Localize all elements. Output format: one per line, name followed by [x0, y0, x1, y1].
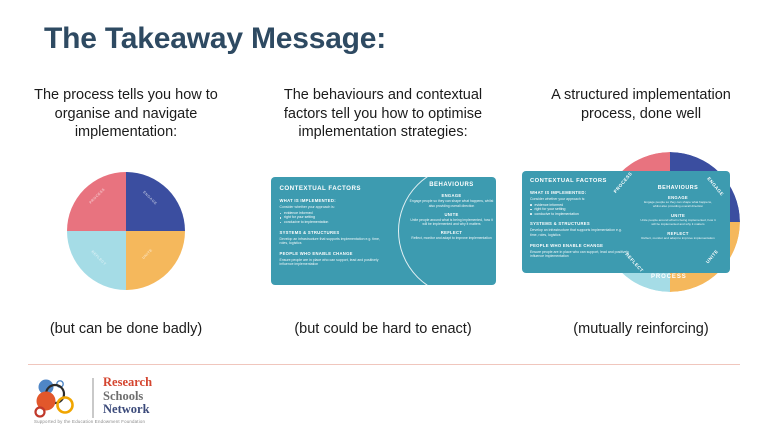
section-body: Develop an infrastructure that supports …	[530, 228, 630, 237]
slide-canvas: The Takeaway Message: The process tells …	[0, 0, 768, 431]
column-2-heading: The behaviours and contextual factors te…	[261, 86, 506, 142]
column-1-heading: The process tells you how to organise an…	[19, 86, 234, 142]
section-bullets: evidence informed right for your setting…	[530, 203, 630, 217]
column-2-figure: CONTEXTUAL FACTORS WHAT IS IMPLEMENTED: …	[252, 142, 514, 322]
footer-tagline: Supported by the Education Endowment Fou…	[34, 419, 145, 424]
footer-logo: Research Schools Network	[32, 376, 152, 420]
contextual-section-systems: SYSTEMS & STRUCTURES Develop an infrastr…	[530, 221, 630, 237]
behaviour-heading: REFLECT	[641, 231, 714, 236]
column-process: The process tells you how to organise an…	[0, 86, 252, 341]
section-heading: PEOPLE WHO ENABLE CHANGE	[280, 251, 388, 256]
pie-segments	[67, 172, 185, 290]
section-body: Ensure people are in place who can suppo…	[530, 250, 630, 259]
research-schools-logo-icon	[32, 376, 88, 420]
behaviour-body: Engage people so they can shape what hap…	[409, 199, 495, 208]
combined-ring-panel: CONTEXTUAL FACTORS WHAT IS IMPLEMENTED: …	[518, 152, 764, 292]
section-body: Develop an infrastructure that supports …	[280, 237, 388, 246]
footer-divider	[28, 364, 740, 365]
contextual-section-systems: SYSTEMS & STRUCTURES Develop an infrastr…	[280, 230, 388, 246]
contextual-section-what: WHAT IS IMPLEMENTED: Consider whether yo…	[280, 198, 388, 224]
behaviours-circle: BEHAVIOURS ENGAGE Engage people so they …	[398, 177, 496, 285]
behaviour-body: Reflect, monitor and adapt to improve im…	[641, 237, 714, 241]
contextual-section-people: PEOPLE WHO ENABLE CHANGE Ensure people a…	[530, 243, 630, 259]
contextual-section-what: WHAT IS IMPLEMENTED: Consider whether yo…	[530, 190, 630, 216]
behaviour-heading: ENGAGE	[409, 193, 495, 198]
column-behaviours: The behaviours and contextual factors te…	[252, 86, 514, 341]
ring-label-bottom: PROCESS	[651, 274, 687, 280]
behaviour-heading: UNITE	[409, 212, 495, 217]
logo-wordmark: Research Schools Network	[103, 376, 152, 417]
section-heading: SYSTEMS & STRUCTURES	[530, 221, 630, 226]
section-bullets: evidence informed right for your setting…	[280, 211, 388, 225]
column-3-heading: A structured implementation process, don…	[529, 86, 754, 123]
section-heading: PEOPLE WHO ENABLE CHANGE	[530, 243, 630, 248]
contextual-factors-title: CONTEXTUAL FACTORS	[530, 178, 630, 184]
bullet-item: conducive to implementation	[530, 212, 630, 217]
column-combined: A structured implementation process, don…	[514, 86, 768, 341]
logo-divider	[92, 378, 94, 418]
behaviours-title: BEHAVIOURS	[658, 185, 699, 191]
contextual-section-people: PEOPLE WHO ENABLE CHANGE Ensure people a…	[280, 251, 388, 267]
behaviour-reflect: REFLECT Reflect, monitor and adapt to im…	[411, 230, 491, 240]
column-1-figure: ENGAGE UNITE REFLECT PROCESS	[0, 142, 252, 322]
section-intro: Consider whether your approach is:	[280, 205, 388, 210]
contextual-behaviours-panel: CONTEXTUAL FACTORS WHAT IS IMPLEMENTED: …	[271, 177, 496, 285]
section-heading: SYSTEMS & STRUCTURES	[280, 230, 388, 235]
behaviour-heading: REFLECT	[411, 230, 491, 235]
contextual-factors-title: CONTEXTUAL FACTORS	[280, 185, 388, 192]
logo-line-schools: Schools	[103, 390, 152, 404]
behaviour-engage: ENGAGE Engage people so they can shape w…	[409, 193, 495, 208]
behaviour-unite: UNITE Unite people around what is being …	[640, 213, 716, 227]
column-3-figure: CONTEXTUAL FACTORS WHAT IS IMPLEMENTED: …	[514, 123, 768, 321]
behaviour-body: Unite people around what is being implem…	[640, 219, 716, 227]
column-2-caption: (but could be hard to enact)	[294, 321, 471, 341]
behaviours-title: BEHAVIOURS	[429, 182, 474, 188]
contextual-factors-block: CONTEXTUAL FACTORS WHAT IS IMPLEMENTED: …	[280, 185, 388, 272]
section-body: Ensure people are in place who can suppo…	[280, 258, 388, 267]
behaviour-engage: ENGAGE Engage people so they can shape w…	[640, 195, 716, 209]
bullet-item: conducive to implementation	[280, 220, 388, 225]
column-3-caption: (mutually reinforcing)	[573, 321, 708, 341]
section-heading: WHAT IS IMPLEMENTED:	[280, 198, 388, 203]
page-title: The Takeaway Message:	[44, 22, 386, 56]
columns-container: The process tells you how to organise an…	[0, 86, 768, 341]
behaviour-body: Unite people around what is being implem…	[409, 218, 495, 227]
behaviour-unite: UNITE Unite people around what is being …	[409, 212, 495, 227]
logo-line-network: Network	[103, 403, 152, 417]
behaviour-body: Engage people so they can shape what hap…	[640, 201, 716, 209]
behaviour-reflect: REFLECT Reflect, monitor and adapt to im…	[641, 231, 714, 241]
logo-line-research: Research	[103, 376, 152, 390]
section-intro: Consider whether your approach is:	[530, 197, 630, 202]
column-1-caption: (but can be done badly)	[50, 321, 202, 341]
process-pie-chart: ENGAGE UNITE REFLECT PROCESS	[67, 172, 185, 290]
behaviour-body: Reflect, monitor and adapt to improve im…	[411, 236, 491, 240]
